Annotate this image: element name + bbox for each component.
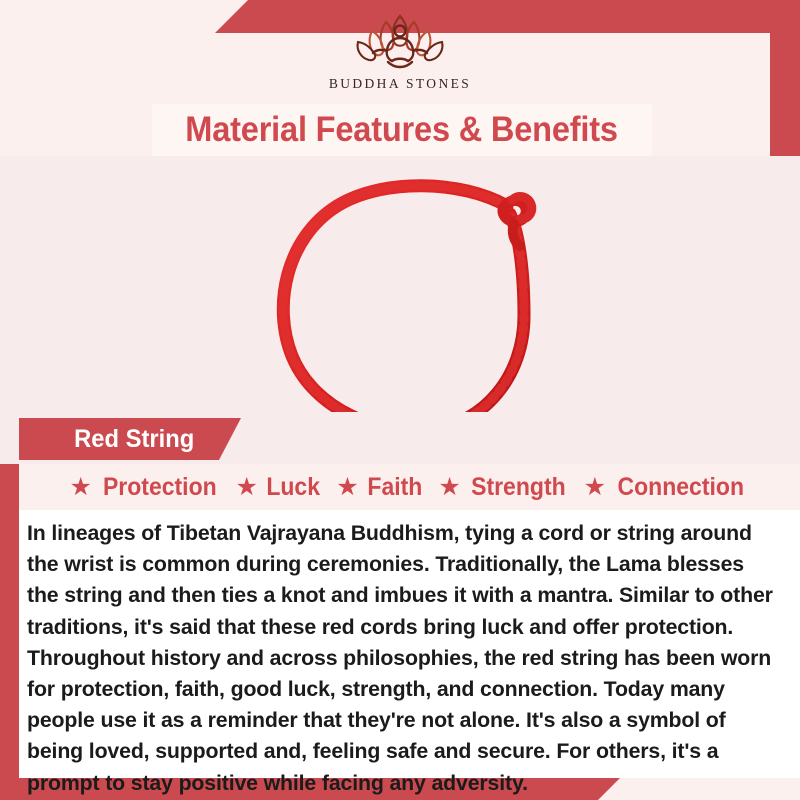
star-icon: ★ — [336, 475, 358, 500]
benefit-label: Strength — [471, 473, 566, 502]
benefit-label: Connection — [618, 473, 745, 502]
star-icon: ★ — [69, 475, 91, 500]
brand-logo: BUDDHA STONES — [0, 8, 800, 92]
star-icon: ★ — [438, 475, 460, 500]
page-title: Material Features & Benefits — [186, 110, 619, 150]
product-image-area — [0, 156, 800, 412]
benefit-label: Protection — [103, 473, 217, 502]
benefit-item-luck: ★ Luck — [236, 473, 323, 502]
benefit-label: Faith — [367, 473, 422, 502]
lotus-meditating-figure-icon — [330, 8, 470, 74]
description-text: In lineages of Tibetan Vajrayana Buddhis… — [27, 518, 778, 799]
title-banner: Material Features & Benefits — [152, 104, 652, 156]
product-infographic-poster: BUDDHA STONES Material Features & Benefi… — [0, 0, 800, 800]
star-icon: ★ — [584, 475, 606, 500]
benefit-item-protection: ★ Protection — [69, 473, 221, 502]
product-label-text: Red String — [74, 425, 194, 454]
benefit-item-connection: ★ Connection — [584, 473, 750, 502]
red-string-bracelet-image — [262, 166, 572, 446]
product-label-ribbon: Red String — [19, 418, 241, 460]
benefits-row: ★ Protection ★ Luck ★ Faith ★ Strength ★… — [19, 464, 800, 510]
brand-header: BUDDHA STONES — [0, 0, 800, 106]
brand-name: BUDDHA STONES — [329, 76, 471, 92]
benefit-label: Luck — [266, 473, 320, 502]
benefit-item-strength: ★ Strength — [438, 473, 569, 502]
star-icon: ★ — [236, 475, 258, 500]
benefit-item-faith: ★ Faith — [336, 473, 424, 502]
description-area: In lineages of Tibetan Vajrayana Buddhis… — [19, 510, 800, 778]
